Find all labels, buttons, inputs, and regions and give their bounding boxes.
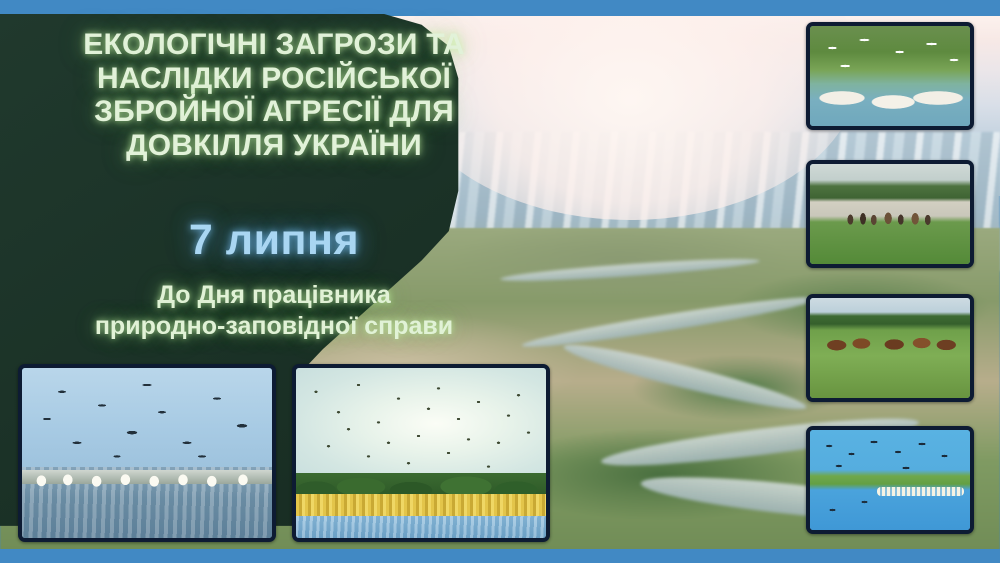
page-subtitle: До Дня працівника природно-заповідної сп…: [10, 280, 538, 342]
title-line-1: ЕКОЛОГІЧНІ ЗАГРОЗИ ТА: [14, 28, 534, 62]
photo-birds-island: [806, 426, 974, 534]
photo-egrets-in-flight: [810, 26, 970, 126]
top-blue-band: [0, 0, 1000, 16]
photo-pelicans-reeds: [806, 22, 974, 130]
photo-deer-herd: [823, 332, 961, 356]
title-line-4: ДОВКІЛЛЯ УКРАЇНИ: [14, 129, 534, 163]
title-line-3: ЗБРОЙНОЇ АГРЕСІЇ ДЛЯ: [14, 95, 534, 129]
title-line-2: НАСЛІДКИ РОСІЙСЬКОЇ: [14, 62, 534, 96]
photo-pelican-row: [27, 467, 267, 491]
bottom-blue-band: [0, 549, 1000, 563]
photo-deer-meadow: [806, 294, 974, 402]
subtitle-line-2: природно-заповідної справи: [10, 311, 538, 342]
page-title: ЕКОЛОГІЧНІ ЗАГРОЗИ ТА НАСЛІДКИ РОСІЙСЬКО…: [14, 28, 534, 162]
subtitle-line-1: До Дня працівника: [10, 280, 538, 311]
photo-flying-birds: [22, 368, 272, 538]
photo-flying-birds: [296, 368, 546, 538]
photo-flock-lake: [292, 364, 550, 542]
photo-horses-bank: [806, 160, 974, 268]
photo-pelicans-shore: [18, 364, 276, 542]
event-date: 7 липня: [14, 216, 534, 265]
poster-canvas: ЕКОЛОГІЧНІ ЗАГРОЗИ ТА НАСЛІДКИ РОСІЙСЬКО…: [0, 0, 1000, 563]
photo-horse-herd: [845, 210, 935, 226]
photo-flying-birds: [810, 430, 970, 530]
